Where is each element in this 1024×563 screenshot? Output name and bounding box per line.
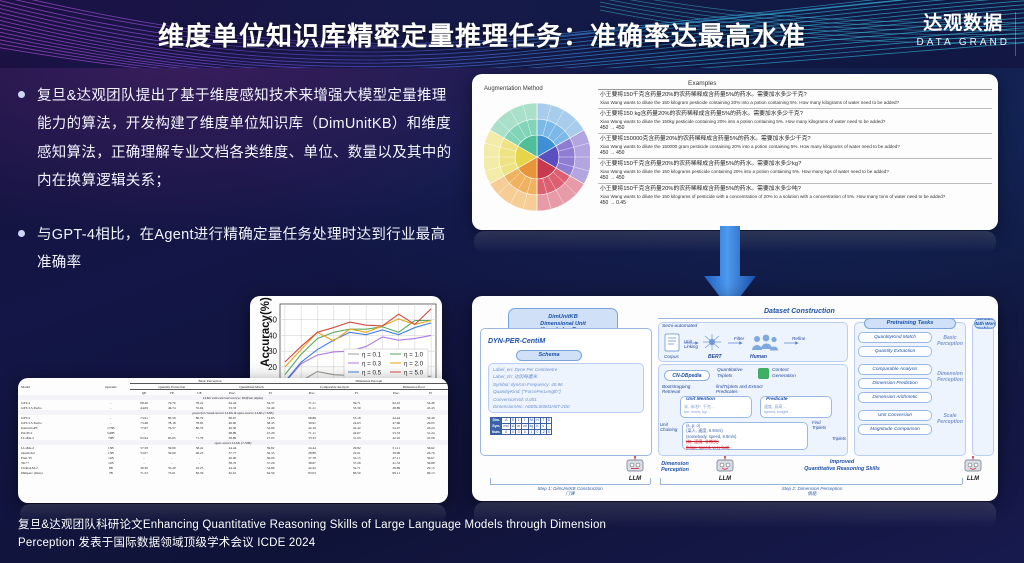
cell-params: 7B [91, 470, 130, 475]
bert-label: BERT [708, 354, 722, 360]
example-answer: 450 → 0.45 [600, 200, 990, 206]
cell-value: 71.53 [130, 470, 158, 475]
predicate-title: Predicate [766, 397, 788, 402]
sunburst-chart [484, 96, 590, 218]
pretraining-task-5: Dimension Arithmetic [858, 392, 932, 403]
schema-label: Schema [516, 350, 582, 361]
improved-line1: Improved [772, 459, 912, 466]
unit-mention-body: 米, 米/秒², 千克… km, km/s, kg… [684, 404, 715, 414]
find-triplets-label: findTriplets and Extract Predicates [716, 384, 772, 395]
dim-table-cell: Num. [491, 429, 502, 435]
dim-table-cell: 0 [502, 429, 510, 435]
example-answer: 450 → 450 [600, 125, 990, 131]
quant-triplets-label: Quantitative Triplets [717, 368, 753, 379]
cell-value: 82.36 [186, 470, 214, 475]
th-params: #params [91, 378, 130, 395]
slide-header: 维度单位知识库精密定量推理任务：准确率达最高水准 达观数据 DATA GRAND [0, 0, 1024, 68]
group-dimension-perception: Dimension Perception [934, 372, 966, 384]
cn-dbpedia-tag: CN-DBpedia [664, 370, 710, 381]
example-cn: 小王要将150000克含药量20%的农药稀释成含药量5%的药水。需要加水多少千克… [600, 136, 990, 143]
robot-icon [624, 456, 646, 474]
bullet-text: 复旦&达观团队提出了基于维度感知技术来增强大模型定量推理能力的算法，开发构建了维… [37, 82, 458, 195]
cell-value: 62.61 [213, 470, 251, 475]
examples-list: Examples 小王要将150千克含药量20%的农药稀释成含药量5%的药水。需… [594, 78, 992, 226]
qmwp-title: Quantitative Math Word Problem [974, 318, 996, 329]
sunburst-area: Augmentation Method [478, 78, 594, 226]
predicate-body: 速度, 身高… speed, height… [764, 404, 792, 414]
bullet-text: 与GPT-4相比，在Agent进行精确定量任务处理时达到行业最高准确率 [37, 221, 458, 278]
dataset-construction-title: Dataset Construction [764, 308, 835, 315]
cell-value: 62.59 [252, 470, 290, 475]
bullet-list: 复旦&达观团队提出了基于维度感知技术来增强大模型定量推理能力的算法，开发构建了维… [18, 82, 458, 304]
dim-table-row: Num.000010-20 [491, 429, 552, 435]
pretraining-task-2: Quantity Extraction [858, 346, 932, 357]
semi-automated-label: Semi-automated [662, 324, 697, 329]
example-row: 小王要将150千克含药量20%的农药稀释成含药量5%的药水。需要加水多少千克? … [598, 90, 992, 109]
slide-root: 维度单位知识库精密定量推理任务：准确率达最高水准 达观数据 DATA GRAND… [0, 0, 1024, 563]
robot-icon [714, 456, 736, 474]
svg-text:η = 0.5: η = 0.5 [362, 370, 382, 377]
llm-robot-2: LLM [712, 456, 738, 482]
triplets-label: Triplets [832, 436, 846, 441]
logo-text-cn: 达观数据 [916, 14, 1010, 34]
find-triplets2-label: Find Triplets [812, 420, 834, 430]
example-row: 小王要将150000克含药量20%的农药稀释成含药量5%的药水。需要加水多少千克… [598, 134, 992, 159]
dim-table-cell: 1 [528, 429, 535, 435]
bullet-dot-icon [18, 91, 25, 98]
cell-value: 83.03 [290, 470, 335, 475]
bootstrapping-label: Bootstrapping Retrieval [662, 384, 702, 395]
schema-field: ConversionVal: 0.001 [493, 396, 643, 403]
filter-label: Filter [734, 336, 744, 341]
step2-cn: 悟能 [807, 491, 816, 496]
human-label: Human [750, 354, 767, 360]
page-title: 维度单位知识库精密定量推理任务：准确率达最高水准 [0, 0, 1024, 68]
svg-text:η = 0.1: η = 0.1 [362, 352, 382, 359]
schema-fields: Label_en: Dyne Per Centimetre Label_zh: … [493, 366, 643, 411]
schema-field: Label_en: Dyne Per Centimetre [493, 366, 643, 373]
step1-caption: Step 1: DimUnitKB Construction 门课 [510, 486, 630, 497]
dimension-vector-table: Dim.AELIMHTDSym.molAmcdkgKs-Num.000010-2… [490, 417, 552, 435]
context-gen-icon [758, 368, 769, 379]
robot-icon [962, 456, 984, 474]
pretraining-task-4: Dimension Prediction [858, 378, 932, 389]
example-row: 小王要将150千克含药量20%的农药稀释成含药量5%的药水。需要加水多少kg? … [598, 159, 992, 184]
header-divider [1015, 12, 1016, 56]
cell-value: 73.61 [158, 470, 186, 475]
svg-text:η = 2.0: η = 2.0 [404, 361, 424, 368]
th-model: Model [18, 378, 91, 395]
architecture-diagram-panel: DimUnitKB Dimensional Unit Knowledge Bas… [472, 296, 998, 501]
svg-text:η = 0.3: η = 0.3 [362, 361, 382, 368]
llm-label: LLM [622, 476, 648, 482]
chart-ylabel: Accuracy(%) [260, 296, 272, 372]
chain-line: (bilge, speed, very fast) [686, 445, 736, 450]
pretraining-task-6: Unit Conversion [858, 410, 932, 421]
cell-model: Dimperc (Ours) [18, 470, 91, 475]
list-item: 复旦&达观团队提出了基于维度感知技术来增强大模型定量推理能力的算法，开发构建了维… [18, 82, 458, 195]
pretraining-tasks-title: Pretraining Tasks [864, 318, 956, 329]
logo-text-en: DATA GRAND [916, 37, 1010, 48]
cell-value: 86.50 [334, 470, 379, 475]
example-cn: 小王要将150千克含药量20%的农药稀释成含药量5%的药水。需要加水多少吨? [600, 186, 990, 193]
schema-field: QuantityKind: ["ForcePerLength"] [493, 388, 643, 395]
schema-field: DimensionVec: A0E0L0I0M1H0T-2D0 [493, 403, 643, 410]
refine-label: Refine [792, 336, 805, 341]
bullet-dot-icon [18, 230, 25, 237]
results-table-panel: Model #params Basic Perception Dimension… [18, 378, 448, 503]
table-body: LLMs with external tool (w/ Wolfram Alph… [18, 395, 448, 475]
example-en: Xiao Wang wants to dilute the 150 kilogr… [600, 100, 990, 106]
improved-arrow-label: Improved Quantitative Reasoning Skills [772, 459, 912, 473]
cell-value: 99.11 [379, 470, 413, 475]
corpus-label: Corpus [664, 354, 679, 359]
cell-value: 99.13 [414, 470, 449, 475]
schema-field: Label_zh: 达因每厘米 [493, 373, 643, 380]
table-header: Model #params Basic Perception Dimension… [18, 378, 448, 395]
group-basic-perception: Basic Perception [934, 336, 966, 348]
llm-robot-3: LLM [960, 456, 986, 482]
brand-logo: 达观数据 DATA GRAND [916, 14, 1010, 48]
unit-mention-title: Unit Mention [686, 397, 715, 402]
footer-caption: 复旦&达观团队科研论文Enhancing Quantitative Reason… [18, 517, 638, 553]
dim-table-cell: 0 [522, 429, 529, 435]
example-cn: 小王要将150千克含药量20%的农药稀释成含药量5%的药水。需要加水多少kg? [600, 161, 990, 168]
pretraining-task-7: Magnitude Comparison [858, 424, 932, 435]
list-item: 与GPT-4相比，在Agent进行精确定量任务处理时达到行业最高准确率 [18, 221, 458, 278]
group-scale-perception: Scale Perception [934, 414, 966, 426]
unit-chaining-label: Unit Chaining [660, 422, 680, 432]
example-cn: 小王要将150 kg含药量20%的农药稀释成含药量5%的药水。需要加水多少千克? [600, 111, 990, 118]
schema-field: Symbol: dyn/cm Frequency: 40.96 [493, 381, 643, 388]
dimension-perception-arrow-label: Dimension Perception [654, 461, 696, 474]
llm-label: LLM [712, 476, 738, 482]
example-row: 小王要将150千克含药量20%的农药稀释成含药量5%的药水。需要加水多少吨? X… [598, 184, 992, 208]
entry-title: DYN-PER-CentiM [488, 338, 545, 345]
example-cn: 小王要将150千克含药量20%的农药稀释成含药量5%的药水。需要加水多少千克? [600, 92, 990, 99]
unit-linking-label: Unit Linking [684, 340, 706, 350]
pretraining-task-1: QuantityKind Match [858, 332, 932, 343]
examples-header: Examples [598, 78, 992, 90]
example-row: 小王要将150 kg含药量20%的农药稀释成含药量5%的药水。需要加水多少千克?… [598, 109, 992, 134]
svg-text:η = 1.0: η = 1.0 [404, 352, 424, 359]
step2-caption: Step 2: Dimension Perception 悟能 [752, 486, 872, 497]
example-answer: 450 → 450 [600, 175, 990, 181]
pretraining-task-3: Comparable Analysis [858, 364, 932, 375]
llm-label: LLM [960, 476, 986, 482]
augmentation-examples-panel: Augmentation Method [472, 74, 998, 230]
architecture-diagram: DimUnitKB Dimensional Unit Knowledge Bas… [472, 296, 998, 501]
improved-line2: Quantitative Reasoning Skills [772, 466, 912, 473]
sunburst-title: Augmentation Method [484, 86, 543, 92]
context-generation-label: Context Generation [772, 368, 812, 379]
qmwp-box-left [972, 322, 994, 456]
results-table: Model #params Basic Perception Dimension… [18, 378, 448, 475]
example-answer: 450 → 450 [600, 150, 990, 156]
dim-table-cell: 0 [546, 429, 551, 435]
step1-cn: 门课 [565, 491, 574, 496]
llm-robot-1: LLM [622, 456, 648, 482]
svg-text:η = 5.0: η = 5.0 [404, 370, 424, 377]
table-row: Dimperc (Ours)7B71.5373.6182.3662.6162.5… [18, 470, 448, 475]
example-en: Xiao Wang wants to dilute the 150 kilogr… [600, 194, 990, 200]
triplet-chain-body: (s, p, o) (某人, 速度, 9.9m/s) (somebody, sp… [686, 423, 736, 450]
